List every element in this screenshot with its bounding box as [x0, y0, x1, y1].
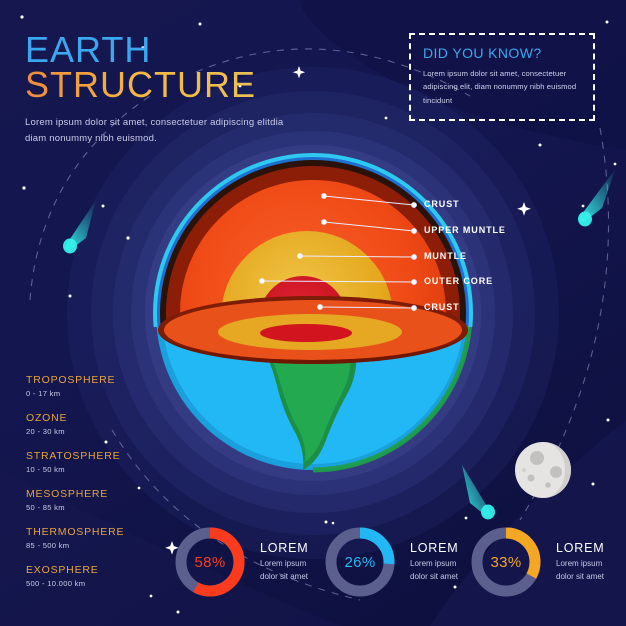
comet-icon-3	[462, 465, 495, 520]
stat-card-0: 58%LOREMLorem ipsumdolor sit amet	[172, 524, 308, 600]
donut-chart-1: 26%	[322, 524, 398, 600]
stat-desc-line1: Lorem ipsum	[260, 559, 306, 568]
cut-plane	[158, 296, 468, 364]
did-you-know-box: DID YOU KNOW? Lorem ipsum dolor sit amet…	[409, 33, 595, 121]
comet-icon	[63, 200, 96, 254]
donut-percent-1: 26%	[322, 524, 398, 600]
earth-layer-label-1: UPPER MUNTLE	[424, 225, 506, 235]
did-you-know-title: DID YOU KNOW?	[423, 45, 581, 61]
stat-title: LOREM	[410, 541, 458, 555]
atmosphere-name: MESOSPHERE	[26, 488, 176, 500]
stat-card-2: 33%LOREMLorem ipsumdolor sit amet	[468, 524, 604, 600]
earth-layer-label-3: OUTER CORE	[424, 276, 493, 286]
stat-title: LOREM	[260, 541, 308, 555]
stat-desc: Lorem ipsumdolor sit amet	[410, 558, 458, 583]
stat-card-1: 26%LOREMLorem ipsumdolor sit amet	[322, 524, 458, 600]
stat-desc-line1: Lorem ipsum	[410, 559, 456, 568]
title-block: EARTH STRUCTURE Lorem ipsum dolor sit am…	[25, 32, 285, 146]
stat-text-0: LOREMLorem ipsumdolor sit amet	[260, 541, 308, 583]
atmosphere-name: THERMOSPHERE	[26, 526, 176, 538]
atmosphere-item-thermosphere: THERMOSPHERE85 - 500 km	[26, 526, 176, 550]
atmosphere-item-exosphere: EXOSPHERE500 - 10.000 km	[26, 564, 176, 588]
stat-text-1: LOREMLorem ipsumdolor sit amet	[410, 541, 458, 583]
earth-layer-label-4: CRUST	[424, 302, 460, 312]
atmosphere-range: 20 - 30 km	[26, 427, 176, 436]
atmosphere-range: 0 - 17 km	[26, 389, 176, 398]
donut-chart-2: 33%	[468, 524, 544, 600]
page-title-line2: STRUCTURE	[25, 67, 285, 104]
atmosphere-name: STRATOSPHERE	[26, 450, 176, 462]
earth-surface	[156, 156, 470, 470]
comet-icon-2	[578, 168, 616, 227]
atmosphere-item-mesosphere: MESOSPHERE50 - 85 km	[26, 488, 176, 512]
donut-chart-0: 58%	[172, 524, 248, 600]
atmosphere-name: EXOSPHERE	[26, 564, 176, 576]
earth-layer-label-2: MUNTLE	[424, 251, 467, 261]
earth-layer-label-0: CRUST	[424, 199, 460, 209]
atmosphere-name: OZONE	[26, 412, 176, 424]
atmosphere-range: 50 - 85 km	[26, 503, 176, 512]
callout-lines	[260, 194, 417, 311]
page-title-line1: EARTH	[25, 32, 285, 67]
atmosphere-layer-list: TROPOSPHERE0 - 17 kmOZONE20 - 30 kmSTRAT…	[26, 374, 176, 602]
stat-desc-line2: dolor sit amet	[260, 572, 308, 581]
stat-desc-line2: dolor sit amet	[556, 572, 604, 581]
atmosphere-name: TROPOSPHERE	[26, 374, 176, 386]
did-you-know-text: Lorem ipsum dolor sit amet, consectetuer…	[423, 67, 581, 107]
atmosphere-range: 10 - 50 km	[26, 465, 176, 474]
stat-desc-line2: dolor sit amet	[410, 572, 458, 581]
atmosphere-range: 500 - 10.000 km	[26, 579, 176, 588]
atmosphere-range: 85 - 500 km	[26, 541, 176, 550]
infographic-canvas: EARTH STRUCTURE Lorem ipsum dolor sit am…	[0, 0, 626, 626]
donut-percent-0: 58%	[172, 524, 248, 600]
atmosphere-item-ozone: OZONE20 - 30 km	[26, 412, 176, 436]
stat-desc-line1: Lorem ipsum	[556, 559, 602, 568]
stat-desc: Lorem ipsumdolor sit amet	[556, 558, 604, 583]
stat-desc: Lorem ipsumdolor sit amet	[260, 558, 308, 583]
stat-text-2: LOREMLorem ipsumdolor sit amet	[556, 541, 604, 583]
donut-percent-2: 33%	[468, 524, 544, 600]
atmosphere-item-stratosphere: STRATOSPHERE10 - 50 km	[26, 450, 176, 474]
page-description: Lorem ipsum dolor sit amet, consectetuer…	[25, 115, 285, 146]
atmosphere-item-troposphere: TROPOSPHERE0 - 17 km	[26, 374, 176, 398]
stat-title: LOREM	[556, 541, 604, 555]
moon-icon	[515, 442, 571, 498]
